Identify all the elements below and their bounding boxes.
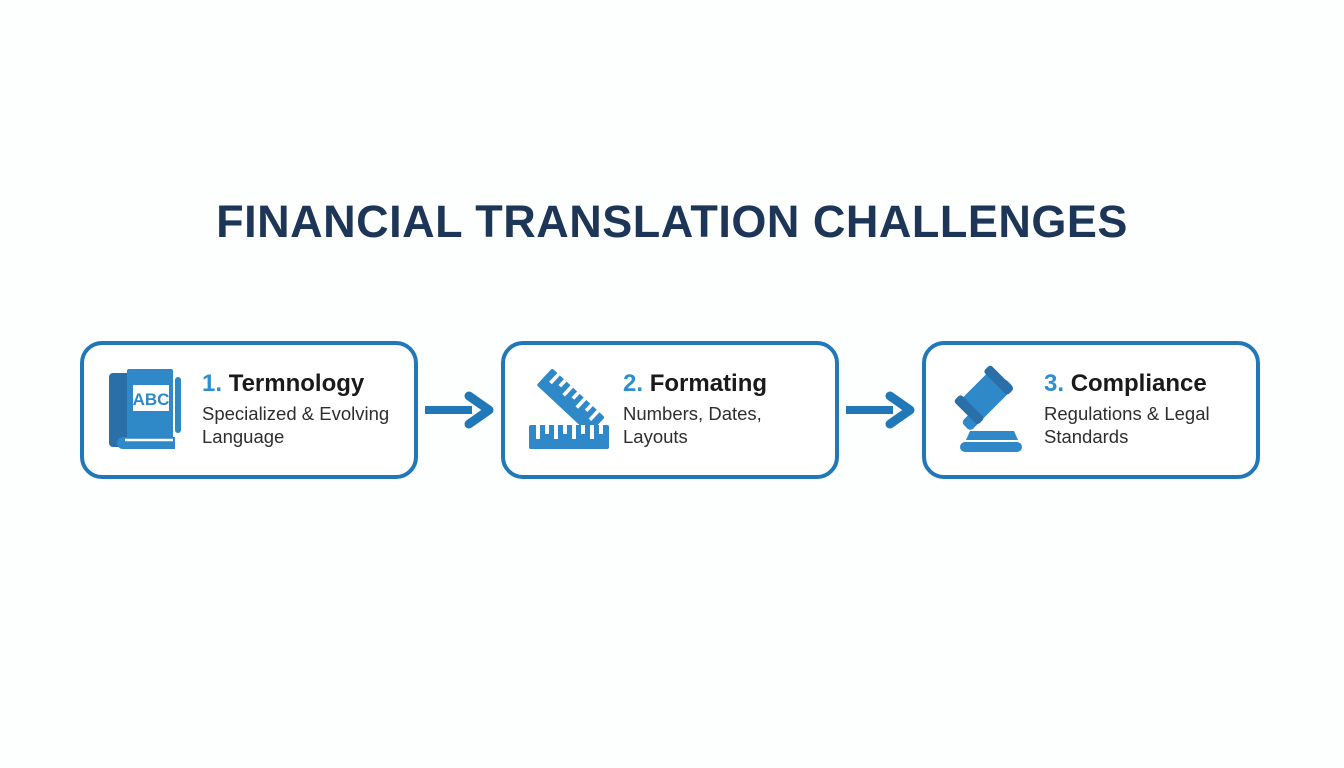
svg-text:ABC: ABC xyxy=(133,390,170,409)
step-card-text: 3. Compliance Regulations & Legal Standa… xyxy=(1044,371,1242,449)
step-card-heading: 1. Termnology xyxy=(202,371,400,397)
arrow-right-icon xyxy=(843,390,919,430)
gavel-icon xyxy=(948,365,1032,455)
step-number: 2. xyxy=(623,370,643,397)
process-flow: ABC 1. Termnology Specialized & Evolving… xyxy=(80,341,1260,479)
step-number: 3. xyxy=(1044,370,1064,397)
step-number: 1. xyxy=(202,370,222,397)
step-title: Termnology xyxy=(229,370,365,397)
step-subtitle: Regulations & Legal Standards xyxy=(1044,402,1242,449)
page-title: FINANCIAL TRANSLATION CHALLENGES xyxy=(0,196,1344,248)
step-card-text: 2. Formating Numbers, Dates, Layouts xyxy=(623,371,821,449)
step-card-heading: 2. Formating xyxy=(623,371,821,397)
ruler-icon xyxy=(527,365,611,455)
step-card-formatting[interactable]: 2. Formating Numbers, Dates, Layouts xyxy=(501,341,839,479)
step-subtitle: Numbers, Dates, Layouts xyxy=(623,402,821,449)
step-title: Compliance xyxy=(1071,370,1207,397)
step-subtitle: Specialized & Evolving Language xyxy=(202,402,400,449)
arrow-right-icon xyxy=(422,390,498,430)
book-abc-icon: ABC xyxy=(106,365,190,455)
step-title: Formating xyxy=(650,370,767,397)
step-card-compliance[interactable]: 3. Compliance Regulations & Legal Standa… xyxy=(922,341,1260,479)
step-card-heading: 3. Compliance xyxy=(1044,371,1242,397)
step-card-terminology[interactable]: ABC 1. Termnology Specialized & Evolving… xyxy=(80,341,418,479)
step-card-text: 1. Termnology Specialized & Evolving Lan… xyxy=(202,371,400,449)
